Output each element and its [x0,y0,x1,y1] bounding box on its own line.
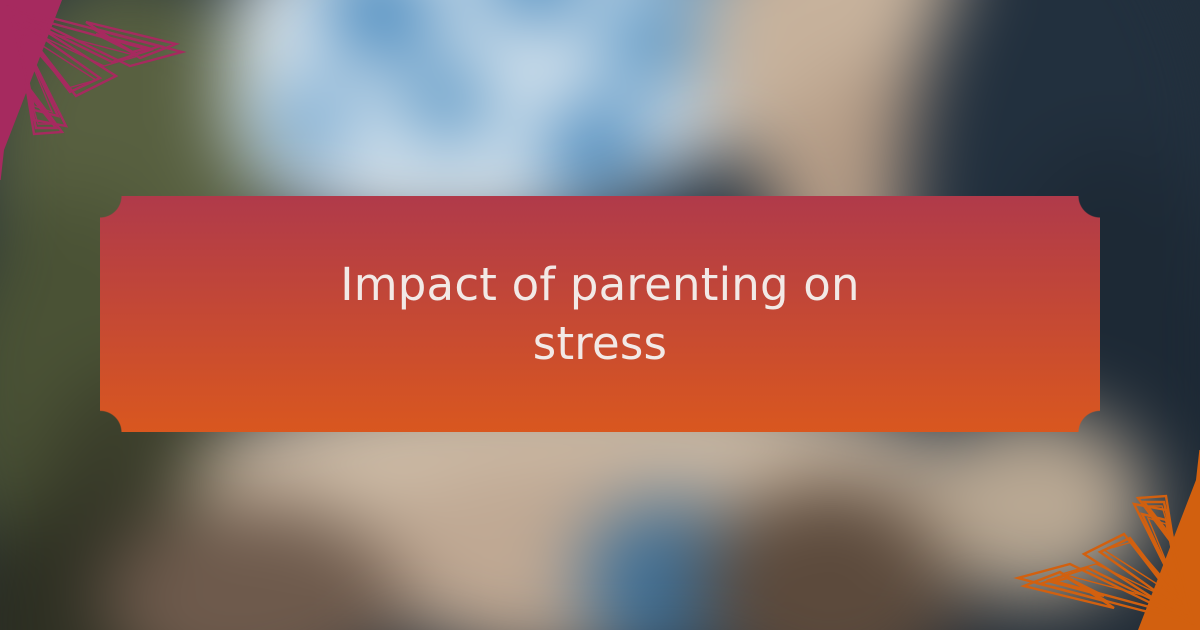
title-banner: Impact of parenting on stress [100,196,1100,432]
page-title: Impact of parenting on stress [320,255,880,374]
